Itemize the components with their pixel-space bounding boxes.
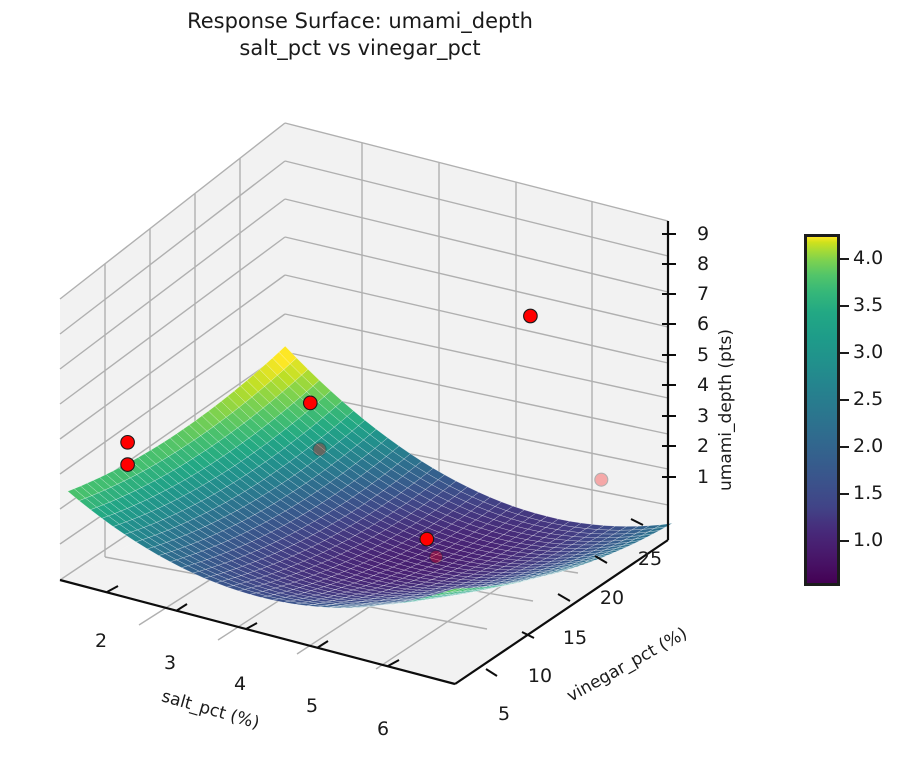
scatter-point-3 <box>313 443 326 456</box>
colorbar-tick-label-1: 3.5 <box>853 294 883 316</box>
surface-plot-3d <box>0 0 902 765</box>
z-tick-label-2: 7 <box>697 283 709 305</box>
colorbar-tick-mark-2 <box>840 352 849 354</box>
colorbar-tick-label-2: 3.0 <box>853 341 883 363</box>
colorbar-tick-mark-1 <box>840 305 849 307</box>
scatter-point-6 <box>420 532 434 546</box>
colorbar-tick-mark-5 <box>840 493 849 495</box>
y-tick-label-3: 20 <box>600 587 624 609</box>
z-tick-label-5: 4 <box>697 374 709 396</box>
z-tick-label-0: 9 <box>697 223 709 245</box>
scatter-point-7 <box>430 550 443 563</box>
colorbar-label: umami_depth (pts) <box>716 329 736 491</box>
colorbar-tick-mark-4 <box>840 446 849 448</box>
scatter-point-0 <box>121 436 135 450</box>
z-tick-label-1: 8 <box>697 253 709 275</box>
colorbar-tick-label-4: 2.0 <box>853 435 883 457</box>
scatter-point-5 <box>595 473 608 486</box>
z-tick-label-8: 1 <box>697 466 709 488</box>
colorbar[interactable] <box>804 234 840 586</box>
y-tick-label-2: 15 <box>563 627 587 649</box>
colorbar-tick-label-3: 2.5 <box>853 388 883 410</box>
z-tick-label-3: 6 <box>697 313 709 335</box>
x-tick-label-2: 4 <box>234 673 246 695</box>
y-tick-label-1: 10 <box>528 665 552 687</box>
scatter-point-1 <box>121 458 135 472</box>
colorbar-tick-label-6: 1.0 <box>853 529 883 551</box>
x-tick-label-1: 3 <box>164 652 176 674</box>
colorbar-tick-mark-6 <box>840 540 849 542</box>
z-tick-label-6: 3 <box>697 405 709 427</box>
x-tick-label-3: 5 <box>306 695 318 717</box>
x-tick-label-0: 2 <box>95 630 107 652</box>
scatter-point-2 <box>304 396 318 410</box>
z-tick-label-4: 5 <box>697 344 709 366</box>
colorbar-tick-label-0: 4.0 <box>853 247 883 269</box>
figure-canvas: Response Surface: umami_depthsalt_pct vs… <box>0 0 902 765</box>
x-tick-label-4: 6 <box>377 718 389 740</box>
colorbar-tick-label-5: 1.5 <box>853 482 883 504</box>
y-tick-label-4: 25 <box>638 548 662 570</box>
y-tick-label-0: 5 <box>498 703 510 725</box>
colorbar-tick-mark-0 <box>840 258 849 260</box>
scatter-point-4 <box>524 309 538 323</box>
colorbar-tick-mark-3 <box>840 399 849 401</box>
z-tick-label-7: 2 <box>697 435 709 457</box>
